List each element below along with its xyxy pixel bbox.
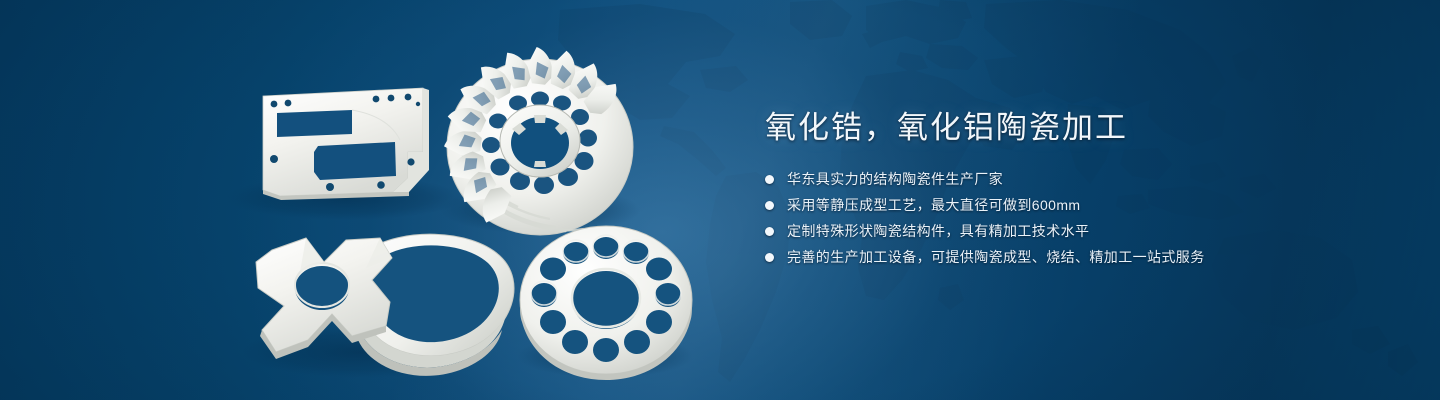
list-item: 定制特殊形状陶瓷结构件，具有精加工技术水平 xyxy=(765,220,1385,242)
list-item: 采用等静压成型工艺，最大直径可做到600mm xyxy=(765,194,1385,216)
banner-copy: 氧化锆，氧化铝陶瓷加工 华东具实力的结构陶瓷件生产厂家 采用等静压成型工艺，最大… xyxy=(765,108,1385,272)
bullet-dot-icon xyxy=(765,253,774,262)
banner-headline: 氧化锆，氧化铝陶瓷加工 xyxy=(765,108,1385,148)
feature-list: 华东具实力的结构陶瓷件生产厂家 采用等静压成型工艺，最大直径可做到600mm 定… xyxy=(765,168,1385,268)
bullet-dot-icon xyxy=(765,227,774,236)
feature-text: 完善的生产加工设备，可提供陶瓷成型、烧结、精加工一站式服务 xyxy=(787,246,1205,268)
product-photo-group xyxy=(0,0,760,400)
ceramic-vaned-impeller xyxy=(444,47,633,235)
ceramic-perforated-disc xyxy=(520,226,692,380)
feature-text: 华东具实力的结构陶瓷件生产厂家 xyxy=(787,168,1003,190)
feature-text: 采用等静压成型工艺，最大直径可做到600mm xyxy=(787,194,1080,216)
list-item: 华东具实力的结构陶瓷件生产厂家 xyxy=(765,168,1385,190)
bullet-dot-icon xyxy=(765,175,774,184)
promo-banner: 氧化锆，氧化铝陶瓷加工 华东具实力的结构陶瓷件生产厂家 采用等静压成型工艺，最大… xyxy=(0,0,1440,400)
ceramic-machined-plate xyxy=(263,88,429,200)
bullet-dot-icon xyxy=(765,201,774,210)
list-item: 完善的生产加工设备，可提供陶瓷成型、烧结、精加工一站式服务 xyxy=(765,246,1385,268)
feature-text: 定制特殊形状陶瓷结构件，具有精加工技术水平 xyxy=(787,220,1089,242)
